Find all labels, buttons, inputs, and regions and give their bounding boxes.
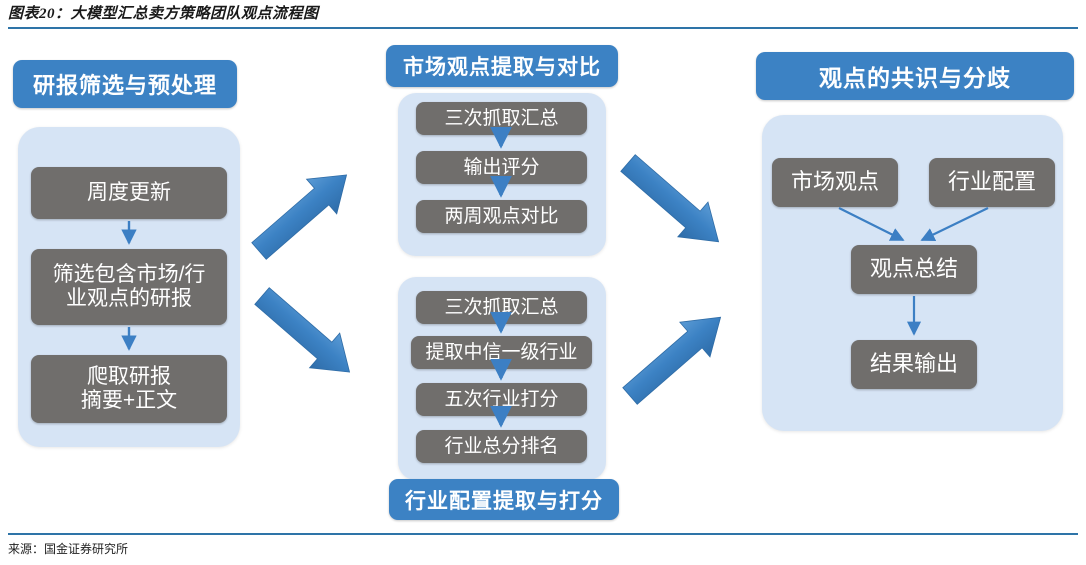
node-output-score: 输出评分 xyxy=(416,151,587,184)
node-triple-extract-market: 三次抓取汇总 xyxy=(416,102,587,135)
node-filter-reports: 筛选包含市场/行 业观点的研报 xyxy=(31,249,227,325)
stage-header-market-view: 市场观点提取与对比 xyxy=(386,45,618,87)
footer-divider xyxy=(8,533,1078,535)
node-industry-alloc: 行业配置 xyxy=(929,158,1055,207)
node-five-industry-score: 五次行业打分 xyxy=(416,383,587,416)
figure-canvas: 图表20：大模型汇总卖方策略团队观点流程图 研报筛选与预处理 周度更新 筛选包含… xyxy=(0,0,1086,565)
flow-arrow-market-view-to-consensus xyxy=(613,146,734,259)
node-result-output: 结果输出 xyxy=(851,340,977,389)
flow-arrow-screening-to-market-view xyxy=(244,158,362,269)
node-industry-total-rank: 行业总分排名 xyxy=(416,430,587,463)
node-view-summary: 观点总结 xyxy=(851,245,977,294)
node-triple-extract-industry: 三次抓取汇总 xyxy=(416,291,587,324)
node-weekly-update: 周度更新 xyxy=(31,167,227,219)
stage-header-consensus: 观点的共识与分歧 xyxy=(756,52,1074,100)
caption-divider xyxy=(8,27,1078,29)
stage-header-industry-alloc: 行业配置提取与打分 xyxy=(389,479,619,520)
stage-header-screening: 研报筛选与预处理 xyxy=(13,60,237,108)
flow-arrow-industry-alloc-to-consensus xyxy=(615,300,736,413)
node-crawl-reports: 爬取研报 摘要+正文 xyxy=(31,355,227,423)
flow-arrow-screening-to-industry-alloc xyxy=(247,279,365,390)
node-two-week-compare: 两周观点对比 xyxy=(416,200,587,233)
node-market-view: 市场观点 xyxy=(772,158,898,207)
figure-caption: 图表20：大模型汇总卖方策略团队观点流程图 xyxy=(8,2,1078,26)
node-extract-citic-l1: 提取中信一级行业 xyxy=(411,336,592,369)
figure-source: 来源：国金证券研究所 xyxy=(8,540,128,557)
